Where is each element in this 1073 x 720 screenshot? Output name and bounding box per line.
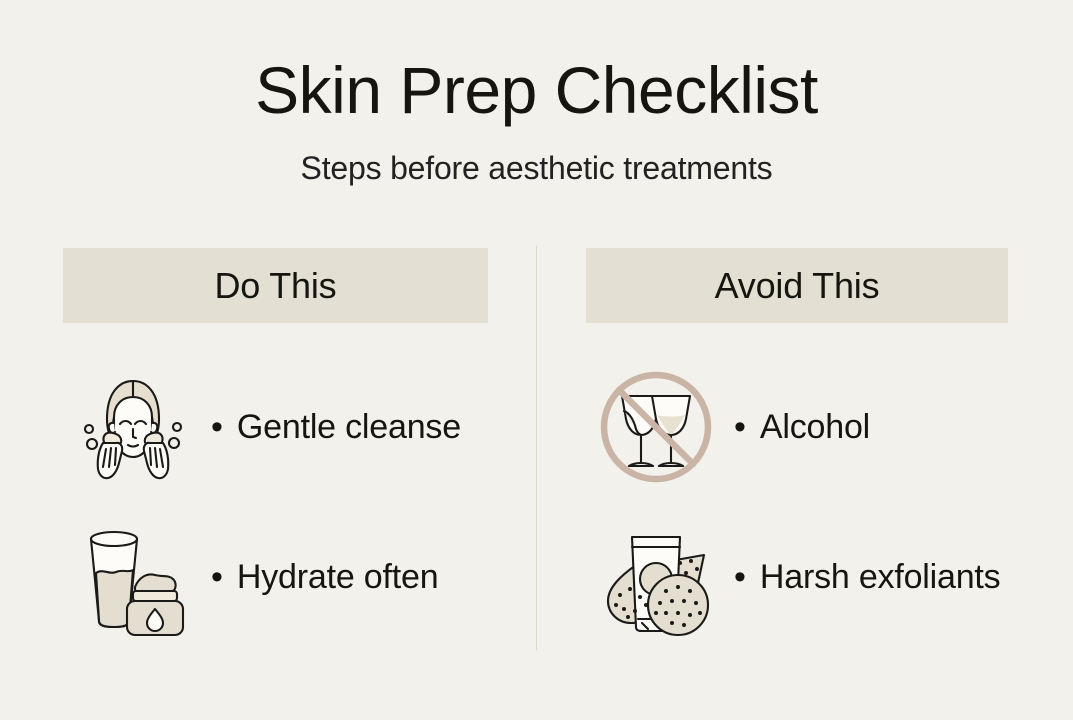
list-item: • Harsh exfoliants — [586, 502, 1026, 652]
no-alcohol-icon — [586, 363, 726, 491]
column-header-do-label: Do This — [215, 265, 337, 307]
list-bullet: • — [734, 554, 746, 600]
list-item-label: Hydrate often — [237, 554, 439, 600]
list-item: • Alcohol — [586, 352, 1026, 502]
column-avoid: • Alcohol — [586, 352, 1026, 652]
list-item: • Hydrate often — [63, 502, 503, 652]
column-header-avoid: Avoid This — [586, 248, 1008, 323]
list-item-label: Gentle cleanse — [237, 404, 461, 450]
infographic-canvas: Skin Prep Checklist Steps before aesthet… — [0, 0, 1073, 720]
face-cleanse-icon — [63, 363, 203, 491]
column-header-do: Do This — [63, 248, 488, 323]
column-divider — [536, 246, 537, 650]
list-item-label: Harsh exfoliants — [760, 554, 1001, 600]
list-bullet: • — [211, 554, 223, 600]
list-bullet: • — [734, 404, 746, 450]
page-title: Skin Prep Checklist — [0, 57, 1073, 123]
list-bullet: • — [211, 404, 223, 450]
list-item-label: Alcohol — [760, 404, 870, 450]
water-glass-moisturizer-icon — [63, 513, 203, 641]
list-item-text: • Alcohol — [726, 404, 870, 450]
harsh-exfoliant-icon — [586, 513, 726, 641]
list-item-text: • Gentle cleanse — [203, 404, 461, 450]
list-item-text: • Harsh exfoliants — [726, 554, 1000, 600]
column-header-avoid-label: Avoid This — [715, 265, 880, 307]
list-item: • Gentle cleanse — [63, 352, 503, 502]
column-do: • Gentle cleanse — [63, 352, 503, 652]
page-subtitle: Steps before aesthetic treatments — [0, 152, 1073, 184]
list-item-text: • Hydrate often — [203, 554, 438, 600]
